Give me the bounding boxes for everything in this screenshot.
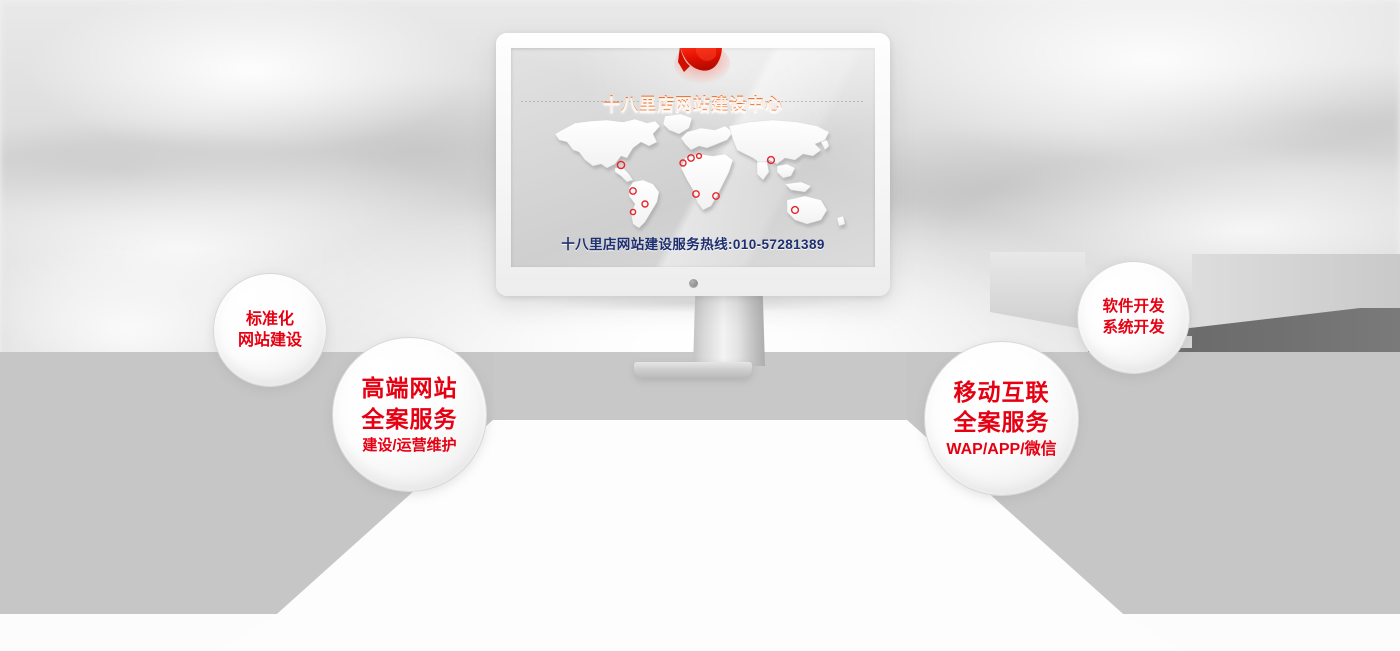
bubble-line: 全案服务 [362, 404, 458, 434]
bubble-software-and-system-development[interactable]: 软件开发 系统开发 [1077, 261, 1190, 374]
bubble-line: 系统开发 [1102, 318, 1164, 338]
bubble-line: 标准化 [246, 309, 294, 330]
bubble-line: 软件开发 [1102, 297, 1164, 317]
perspective-floor [0, 352, 1400, 651]
bubble-line: 网站建设 [238, 330, 302, 351]
red-ribbon-icon [666, 48, 736, 92]
banner-stage: 十八里店网站建设中心 十八里店网站建设服务热线:010-57281389 标准化… [0, 0, 1400, 651]
bubble-high-end-website-full-service[interactable]: 高端网站 全案服务 建设/运营维护 [332, 337, 487, 492]
screen-hotline: 十八里店网站建设服务热线:010-57281389 [511, 233, 875, 253]
monitor-stand-neck [693, 296, 765, 366]
bubble-line: 移动互联 [954, 377, 1050, 407]
bubble-line: WAP/APP/微信 [946, 439, 1056, 460]
screen-title: 十八里店网站建设中心 [511, 90, 875, 115]
monitor-camera-dot [689, 279, 698, 288]
monitor-stand-base [634, 362, 752, 378]
monitor-screen: 十八里店网站建设中心 十八里店网站建设服务热线:010-57281389 [511, 48, 875, 267]
world-map-icon [529, 106, 859, 238]
bubble-line: 高端网站 [362, 373, 458, 403]
bubble-standard-website-construction[interactable]: 标准化 网站建设 [213, 273, 327, 387]
bubble-line: 建设/运营维护 [362, 436, 456, 456]
bubble-line: 全案服务 [954, 407, 1050, 437]
bubble-mobile-internet-full-service[interactable]: 移动互联 全案服务 WAP/APP/微信 [924, 341, 1079, 496]
desktop-monitor: 十八里店网站建设中心 十八里店网站建设服务热线:010-57281389 [496, 33, 890, 296]
